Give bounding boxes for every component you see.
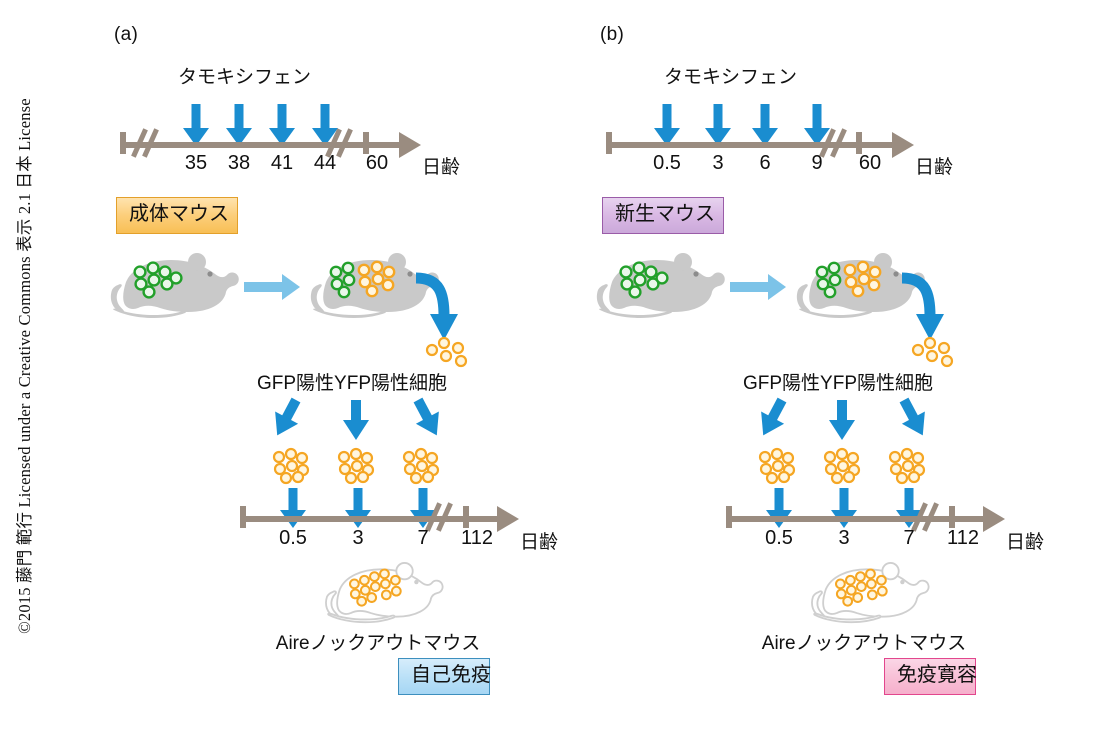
panel-b-transition-arrow — [730, 274, 786, 300]
panel-b-cluster-3 — [886, 448, 932, 484]
panel-a-cluster-2 — [335, 448, 381, 484]
panel-b-transfer-arrow-2 — [831, 488, 857, 528]
tamoxifen-arrow-b3 — [752, 104, 778, 146]
panel-b-bottom-axis-start-tick — [726, 506, 732, 528]
panel-a-subject-badge: 成体マウス — [116, 197, 238, 234]
panel-a-top-tick-0: 35 — [185, 152, 207, 175]
panel-b-top-axis-line — [606, 142, 858, 148]
panel-a-donor-mouse-green — [104, 252, 234, 320]
panel-b-donor-mouse-green — [590, 252, 720, 320]
panel-a-cluster-1 — [270, 448, 316, 484]
panel-b-branch-arrows — [764, 398, 924, 444]
panel-a-top-axis-unit: 日齢 — [422, 152, 460, 179]
panel-b-recipient-mouse — [800, 562, 930, 624]
panel-b-bottom-tick-0: 0.5 — [765, 527, 793, 550]
panel-b-bottom-axis-break — [914, 504, 940, 532]
panel-b-cluster-1 — [756, 448, 802, 484]
panel-a-top-tick-3: 44 — [314, 152, 336, 175]
panel-a-top-tick-1: 38 — [228, 152, 250, 175]
panel-b-outcome-badge: 免疫寛容 — [884, 658, 976, 695]
panel-b-bottom-axis-arrowhead — [983, 506, 1005, 532]
panel-b-bottom-tick-2: 7 — [903, 527, 914, 550]
panel-b-top-axis-start-tick — [606, 132, 612, 154]
panel-b-bottom-axis-unit: 日齢 — [1006, 527, 1044, 554]
panel-b-top-axis-unit: 日齢 — [915, 152, 953, 179]
panel-b: (b) タモキシフェン 0.5 3 6 9 60 日齢 新生マウス — [578, 0, 1068, 732]
panel-b-top-tick-4: 60 — [859, 152, 881, 175]
panel-a-recipient-label: Aireノックアウトマウス — [276, 628, 480, 655]
panel-a-bottom-axis-unit: 日齢 — [520, 527, 558, 554]
panel-a-top-tick-2: 41 — [271, 152, 293, 175]
copyright-notice: ©2015 藤門 範行 Licensed under a Creative Co… — [6, 0, 40, 732]
panel-a-label: (a) — [114, 24, 138, 46]
panel-a-cells-label: GFP陽性YFP陽性細胞 — [257, 368, 447, 395]
panel-b-top-tick-2: 6 — [759, 152, 770, 175]
panel-a-top-axis-arrowhead — [399, 132, 421, 158]
panel-a-cluster-3 — [400, 448, 446, 484]
panel-a-bottom-tick-1: 3 — [352, 527, 363, 550]
panel-b-top-tick-3: 9 — [811, 152, 822, 175]
panel-a-bottom-axis-line-tail — [463, 516, 499, 522]
panel-b-bottom-axis-line-tail — [949, 516, 985, 522]
panel-b-bottom-tick-3: 112 — [947, 527, 979, 550]
panel-b-bottom-tick-1: 3 — [838, 527, 849, 550]
tamoxifen-arrow-b2 — [705, 104, 731, 146]
panel-a-bottom-tick-2: 7 — [417, 527, 428, 550]
copyright-text: ©2015 藤門 範行 Licensed under a Creative Co… — [11, 98, 35, 634]
panel-b-treatment-label: タモキシフェン — [664, 62, 797, 89]
panel-b-top-axis-arrowhead — [892, 132, 914, 158]
panel-b-top-tick-1: 3 — [712, 152, 723, 175]
panel-a-top-axis-break-left — [134, 130, 160, 158]
panel-a-branch-arrows — [278, 398, 438, 444]
panel-a-bottom-axis-start-tick — [240, 506, 246, 528]
panel-a-bottom-tick-3: 112 — [461, 527, 493, 550]
tamoxifen-arrow-3 — [269, 104, 295, 146]
panel-a-transfer-arrow-2 — [345, 488, 371, 528]
panel-a-transfer-arrow-1 — [280, 488, 306, 528]
panel-a-outcome-badge: 自己免疫 — [398, 658, 490, 695]
panel-a-bottom-axis-arrowhead — [497, 506, 519, 532]
panel-a-transition-arrow — [244, 274, 300, 300]
panel-b-harvested-cells — [908, 334, 962, 370]
tamoxifen-arrow-2 — [226, 104, 252, 146]
panel-b-top-tick-0: 0.5 — [653, 152, 681, 175]
panel-a-harvested-cells — [422, 334, 476, 370]
panel-b-cluster-2 — [821, 448, 867, 484]
panel-b-label: (b) — [600, 24, 624, 46]
panel-a-top-axis-start-tick — [120, 132, 126, 154]
panel-a-top-tick-4: 60 — [366, 152, 388, 175]
panel-a: (a) タモキシフェン 35 38 41 44 60 日齢 成体マウス — [92, 0, 582, 732]
panel-b-cells-label: GFP陽性YFP陽性細胞 — [743, 368, 933, 395]
tamoxifen-arrow-1 — [183, 104, 209, 146]
panel-a-recipient-mouse — [314, 562, 444, 624]
panel-b-top-axis-line-tail — [856, 142, 894, 148]
tamoxifen-arrow-b1 — [654, 104, 680, 146]
panel-a-bottom-axis-break — [428, 504, 454, 532]
panel-b-recipient-label: Aireノックアウトマウス — [762, 628, 966, 655]
panel-a-bottom-tick-0: 0.5 — [279, 527, 307, 550]
panel-b-top-axis-break — [822, 130, 848, 158]
panel-a-treatment-label: タモキシフェン — [178, 62, 311, 89]
panel-b-transfer-arrow-1 — [766, 488, 792, 528]
panel-a-top-axis-line-tail — [363, 142, 401, 148]
panel-b-subject-badge: 新生マウス — [602, 197, 724, 234]
